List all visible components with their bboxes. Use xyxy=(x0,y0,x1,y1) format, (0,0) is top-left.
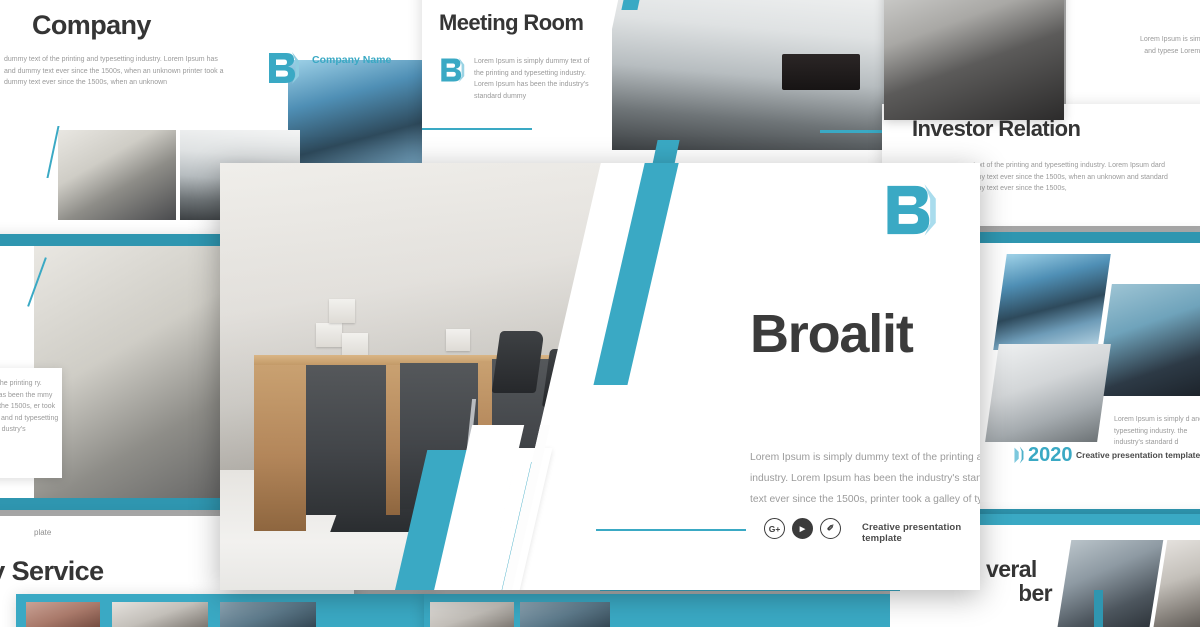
hero-chair-1 xyxy=(492,331,545,393)
bottom-right-vertical-band xyxy=(1094,590,1103,627)
bottom-photo-lamp xyxy=(220,602,316,627)
hero-description: Lorem Ipsum is simply dummy text of the … xyxy=(750,447,980,510)
investor-relation-men-photo xyxy=(884,0,1064,120)
meeting-room-slide-body: Lorem Ipsum is simply dummy text of the … xyxy=(474,56,594,102)
background-slide-bottom-people[interactable] xyxy=(16,594,434,627)
year-logo-icon xyxy=(1006,444,1024,466)
background-slide-meeting-room[interactable]: Meeting Room Lorem Ipsum is simply dummy… xyxy=(422,0,890,168)
youtube-icon[interactable]: ▶ xyxy=(792,518,813,539)
jason-body: Lorem Ipsum is simply d the printing and… xyxy=(1134,34,1200,69)
hero-social-links: G+ ▶ ✐ xyxy=(764,518,841,539)
bottom-photo-people xyxy=(112,602,208,627)
hero-footer-rule xyxy=(596,529,746,531)
hero-cabinet-left-wood xyxy=(254,365,306,531)
company-office-photo xyxy=(58,130,176,220)
company-logo-icon xyxy=(266,50,300,86)
vision-body: dummy text of the printing ry. Lorem Ips… xyxy=(0,378,60,436)
hero-box-4 xyxy=(446,329,470,351)
year-woman-photo xyxy=(985,344,1111,442)
hero-slide[interactable]: Broalit Lorem Ipsum is simply dummy text… xyxy=(220,163,980,590)
twitter-icon[interactable]: ✐ xyxy=(820,518,841,539)
year-label: Creative presentation template xyxy=(1076,450,1200,460)
meeting-room-rule-right xyxy=(820,130,882,133)
hero-box-1 xyxy=(316,323,342,347)
bottom-right-photo-1 xyxy=(430,602,514,627)
year-top-band xyxy=(978,232,1200,243)
meeting-room-slide-title: Meeting Room xyxy=(439,10,583,36)
bottom-right-photo-2 xyxy=(520,602,610,627)
investor-relation-body: my text of the printing and typesetting … xyxy=(962,160,1172,195)
year-value: 2020 xyxy=(1028,444,1073,467)
several-member-portrait-1 xyxy=(1057,540,1164,627)
year-building-photo xyxy=(993,254,1110,350)
hero-cabinet-dark-1 xyxy=(306,365,386,515)
bottom-right-white-panel xyxy=(890,584,1020,627)
company-slide-body: dummy text of the printing and typesetti… xyxy=(4,54,224,89)
hero-cabinet-wood-2 xyxy=(386,365,400,515)
company-slide-title: Company xyxy=(32,10,151,41)
bottom-photo-brick xyxy=(26,602,100,627)
meeting-room-tv xyxy=(782,54,860,90)
hero-footer-label: Creative presentation template xyxy=(862,522,980,544)
hero-footer: G+ ▶ ✐ Creative presentation template xyxy=(690,518,980,540)
google-plus-icon[interactable]: G+ xyxy=(764,518,785,539)
meeting-room-logo-icon xyxy=(439,56,465,84)
hero-broalit-logo-icon xyxy=(882,181,938,239)
company-brand-label: Company Name xyxy=(312,54,391,66)
company-service-title: any Service xyxy=(0,556,104,587)
slide-collage-stage: Company dummy text of the printing and t… xyxy=(0,0,1200,627)
year-body: Lorem Ipsum is simply d and typesetting … xyxy=(1114,414,1200,449)
hero-box-2 xyxy=(342,333,368,357)
year-man-photo xyxy=(1096,284,1200,396)
hero-content-panel: Broalit Lorem Ipsum is simply dummy text… xyxy=(690,163,980,590)
hero-brand-title: Broalit xyxy=(750,303,913,365)
background-slide-year-2020[interactable]: Lorem Ipsum is simply d and typesetting … xyxy=(978,232,1200,520)
meeting-room-rule-left xyxy=(422,128,532,130)
background-slide-bottom-right-strip[interactable] xyxy=(424,594,890,627)
several-member-title-line1: veral xyxy=(986,556,1037,583)
hero-box-3 xyxy=(329,299,355,323)
company-service-caption: plate xyxy=(34,528,51,537)
